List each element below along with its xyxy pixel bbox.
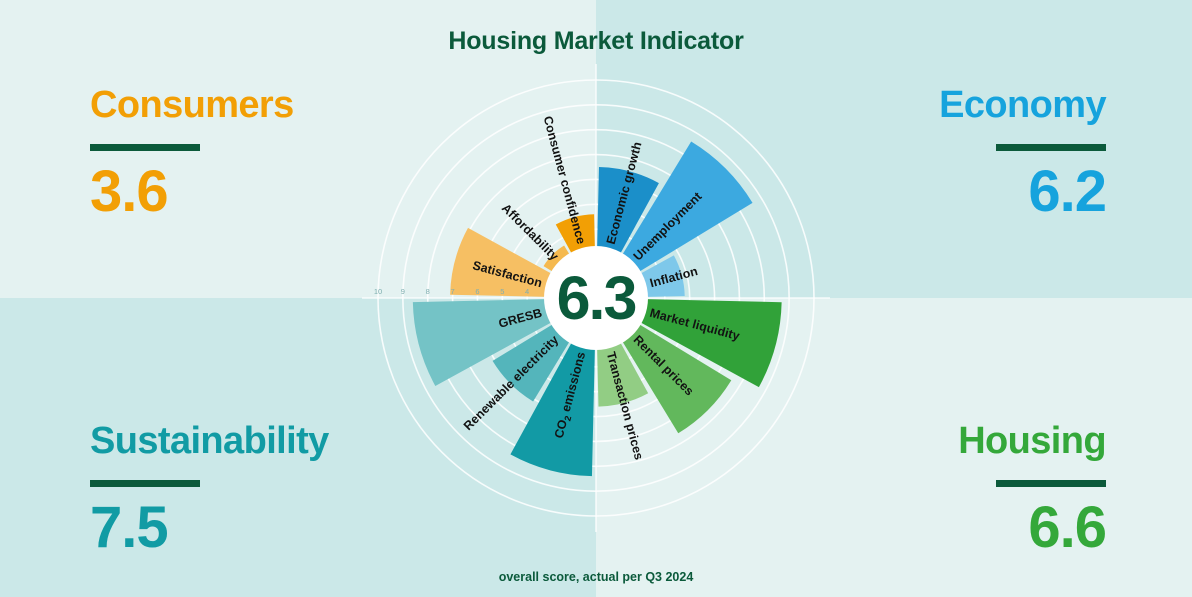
category-name-sustainability: Sustainability [90,422,329,462]
category-block-economy: Economy 6.2 [939,86,1106,221]
category-name-consumers: Consumers [90,86,294,126]
axis-tick-label: 9 [401,287,405,296]
axis-tick-label: 5 [500,287,504,296]
category-block-consumers: Consumers 3.6 [90,86,294,221]
category-divider-housing [996,480,1106,487]
category-name-economy: Economy [939,86,1106,126]
chart-footnote: overall score, actual per Q3 2024 [0,570,1192,584]
polar-rose-chart: Economic growth: 6.5Unemployment: 8.6Inf… [346,48,846,548]
category-divider-economy [996,144,1106,151]
category-divider-sustainability [90,480,200,487]
category-name-housing: Housing [958,422,1106,462]
axis-tick-label: 6 [475,287,479,296]
axis-tick-label: 10 [374,287,382,296]
category-value-sustainability: 7.5 [90,499,329,557]
axis-tick-label: 7 [450,287,454,296]
category-value-consumers: 3.6 [90,163,294,221]
chart-svg: Economic growth: 6.5Unemployment: 8.6Inf… [346,48,846,548]
category-block-housing: Housing 6.6 [958,422,1106,557]
axis-tick-label: 4 [525,287,529,296]
category-value-housing: 6.6 [958,499,1106,557]
overall-score-value: 6.3 [557,264,636,332]
page-title: Housing Market Indicator [0,27,1192,56]
axis-tick-label: 8 [426,287,430,296]
chart-center-hub: 6.3 [544,246,648,350]
category-value-economy: 6.2 [939,163,1106,221]
category-divider-consumers [90,144,200,151]
category-block-sustainability: Sustainability 7.5 [90,422,329,557]
